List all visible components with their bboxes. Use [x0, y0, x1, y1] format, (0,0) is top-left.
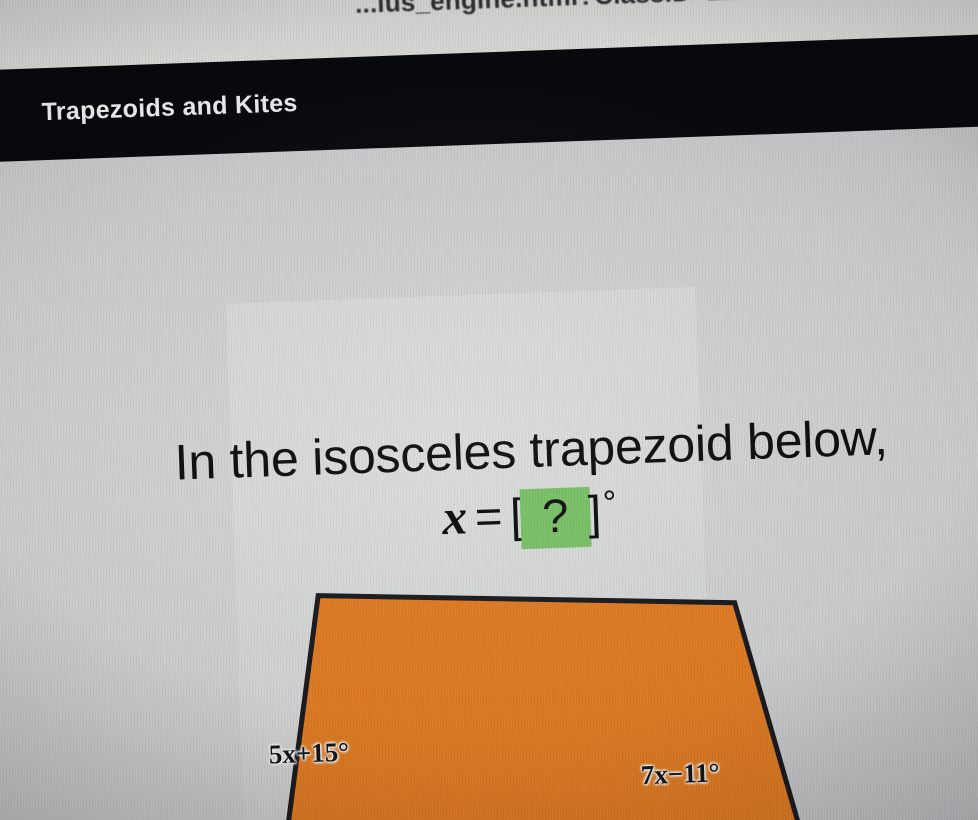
photographed-screen: ...lus_engine.html?ClassID=1201013370 Tr…: [0, 0, 978, 820]
trapezoid-figure: 5x+15° 7x−11°: [230, 395, 905, 820]
trapezoid-polygon: [264, 578, 828, 820]
lesson-title: Trapezoids and Kites: [41, 89, 298, 127]
angle-label-bottom-left: 5x+15°: [268, 737, 349, 771]
angle-label-bottom-right: 7x−11°: [640, 757, 720, 791]
lesson-page-body: In the isosceles trapezoid below, x=[?]°…: [0, 124, 978, 820]
address-bar-url[interactable]: ...lus_engine.html?ClassID=1201013370: [354, 0, 853, 20]
screenshot-root: ...lus_engine.html?ClassID=1201013370 Tr…: [0, 0, 978, 820]
